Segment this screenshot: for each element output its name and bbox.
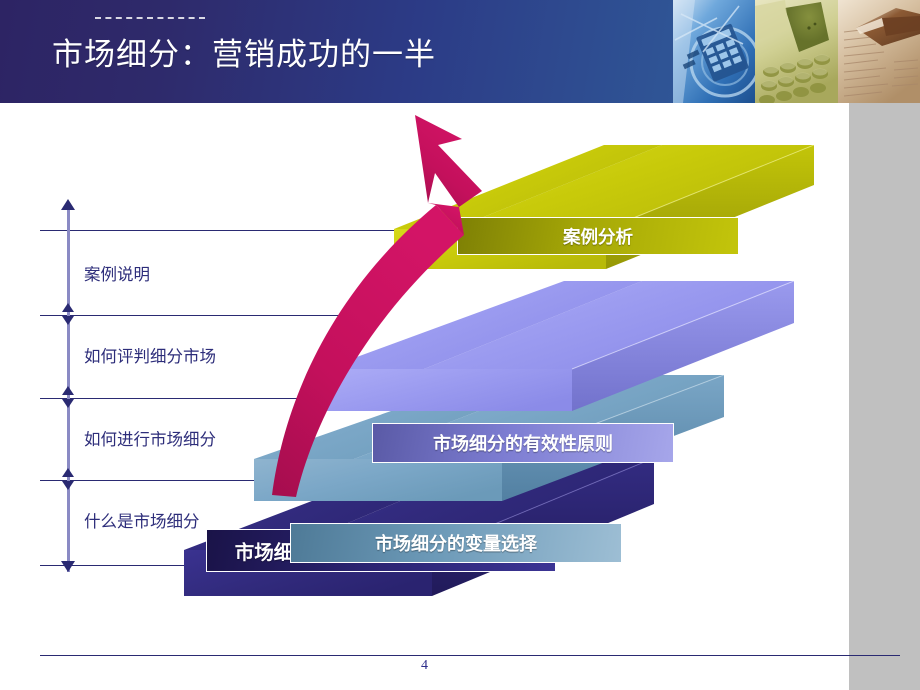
- axis-label-how-to-segment: 如何进行市场细分: [84, 426, 216, 450]
- axis-tick-arrow-down-2: [62, 399, 74, 408]
- header-dashed-rule: [95, 17, 205, 19]
- axis-tick-arrow-down-3: [62, 481, 74, 490]
- layered-slab-stack: 市场细分的定义、作用、理论依据: [0, 103, 849, 690]
- slab-label-text-4: 案例分析: [563, 224, 633, 249]
- slide-header: 市场细分：营销成功的一半: [0, 0, 920, 103]
- diagram-area: 案例说明 如何评判细分市场 如何进行市场细分 什么是市场细分: [0, 103, 849, 690]
- axis-label-case-explanation: 案例说明: [84, 261, 150, 285]
- pen-document-photo: [838, 0, 920, 103]
- axis-tick-arrow-up-2: [62, 386, 74, 395]
- divider-line-1: [40, 230, 428, 231]
- divider-line-2: [40, 315, 360, 316]
- phone-keypad-photo: [755, 0, 838, 103]
- slab-label-layer-3[interactable]: 市场细分的有效性原则: [372, 423, 674, 463]
- slab-label-layer-4[interactable]: 案例分析: [457, 217, 739, 255]
- axis-tick-arrow-up-3: [62, 468, 74, 477]
- slide-canvas: 市场细分：营销成功的一半: [0, 0, 920, 690]
- slab-label-text-3: 市场细分的有效性原则: [433, 430, 613, 456]
- axis-label-how-to-evaluate: 如何评判细分市场: [84, 343, 216, 367]
- axis-label-what-is-segmentation: 什么是市场细分: [84, 508, 200, 532]
- slide-title: 市场细分：营销成功的一半: [52, 38, 436, 72]
- footer-rule: [40, 655, 900, 656]
- axis-arrow-top: [61, 199, 75, 210]
- axis-tick-arrow-up-1: [62, 303, 74, 312]
- slab-label-layer-2[interactable]: 市场细分的变量选择: [290, 523, 622, 563]
- slab-layer-3[interactable]: [324, 281, 794, 413]
- calculator-photo: [673, 0, 755, 103]
- right-gutter: [849, 103, 920, 690]
- axis-arrow-bottom: [61, 561, 75, 572]
- axis-tick-arrow-down-1: [62, 316, 74, 325]
- slab-label-text-2: 市场细分的变量选择: [375, 530, 537, 556]
- page-number: 4: [0, 658, 849, 674]
